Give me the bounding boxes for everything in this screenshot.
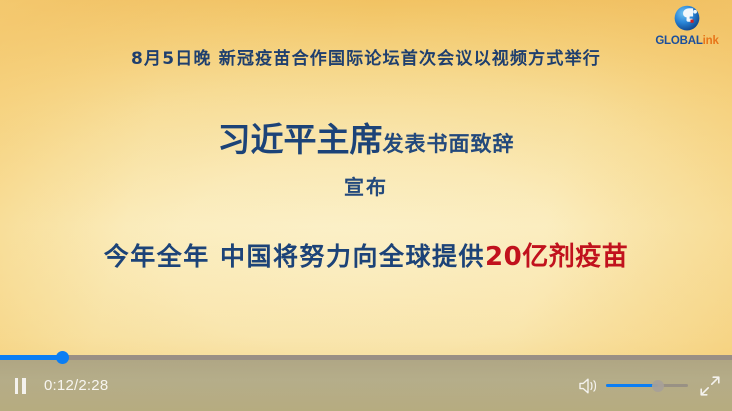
player-control-bar[interactable]: 0:12/2:28 [0,355,732,411]
pause-button[interactable] [0,360,40,411]
video-frame[interactable]: GLOBALink 8月5日晚 新冠疫苗合作国际论坛首次会议以视频方式举行 习近… [0,0,732,411]
pause-icon [15,378,26,394]
globe-icon [672,4,702,34]
caption-statement-prefix: 今年全年 中国将努力向全球提供 [104,237,485,273]
volume-slider-fill [606,384,658,387]
controls-left-group: 0:12/2:28 [0,360,108,411]
caption-headline-rest: 发表书面致辞 [383,128,515,159]
controls-right-group [572,360,732,411]
caption-kicker: 8月5日晚 新冠疫苗合作国际论坛首次会议以视频方式举行 [0,44,732,69]
fullscreen-icon [699,375,721,397]
volume-icon [578,377,600,395]
caption-headline-emphasis: 习近平主席 [218,113,383,161]
fullscreen-button[interactable] [688,360,732,411]
volume-slider-handle[interactable] [652,380,664,392]
video-player[interactable]: GLOBALink 8月5日晚 新冠疫苗合作国际论坛首次会议以视频方式举行 习近… [0,0,732,411]
time-display: 0:12/2:28 [40,377,108,394]
video-caption-overlay: 8月5日晚 新冠疫苗合作国际论坛首次会议以视频方式举行 习近平主席 发表书面致辞… [0,44,732,273]
caption-statement-highlight: 20亿剂疫苗 [485,236,628,273]
volume-slider[interactable] [606,379,688,392]
volume-button[interactable] [572,360,606,411]
caption-statement: 今年全年 中国将努力向全球提供 20亿剂疫苗 [0,236,732,273]
caption-announce: 宣布 [0,171,732,200]
caption-headline: 习近平主席 发表书面致辞 [0,113,732,161]
globalink-watermark: GLOBALink [650,4,724,47]
